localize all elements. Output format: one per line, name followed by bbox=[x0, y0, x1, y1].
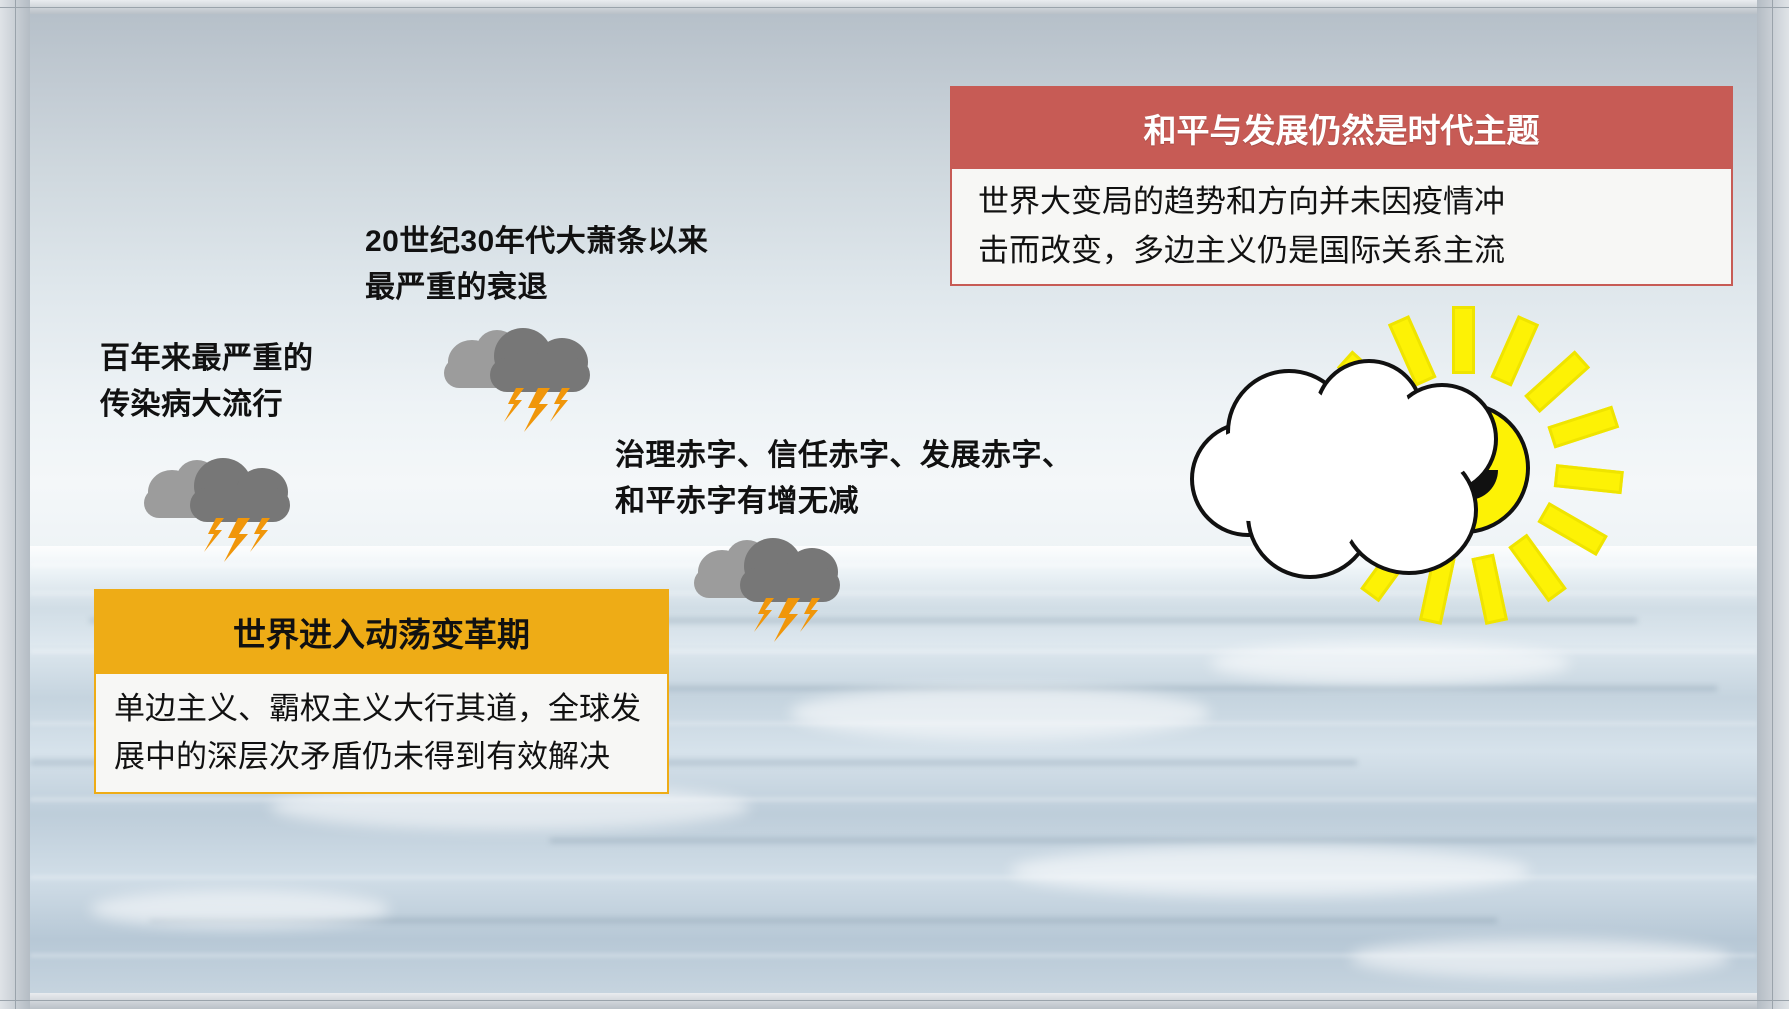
callout-recession-line-2: 最严重的衰退 bbox=[365, 265, 708, 311]
lightning-bolt-icon bbox=[752, 598, 912, 668]
callout-pandemic: 百年来最严重的 传染病大流行 bbox=[100, 336, 314, 427]
callout-pandemic-line-1: 百年来最严重的 bbox=[100, 336, 314, 382]
storm-cloud-icon-1 bbox=[140, 444, 300, 584]
turbulent-change-box-body: 单边主义、霸权主义大行其道，全球发 展中的深层次矛盾仍未得到有效解决 bbox=[94, 674, 669, 794]
turbulent-change-body-line-2: 展中的深层次矛盾仍未得到有效解决 bbox=[114, 733, 649, 781]
lightning-bolt-icon bbox=[202, 518, 362, 588]
callout-deficits: 治理赤字、信任赤字、发展赤字、 和平赤字有增无减 bbox=[615, 433, 1073, 524]
slide-canvas: 百年来最严重的 传染病大流行 20世纪30年代大萧条以来 最严重的衰退 治理赤字… bbox=[30, 14, 1757, 993]
white-cloud-icon bbox=[1190, 359, 1500, 574]
frame-bottom-bar bbox=[0, 993, 1789, 1009]
frame-right-bar bbox=[1757, 0, 1789, 1009]
callout-deficits-line-1: 治理赤字、信任赤字、发展赤字、 bbox=[615, 433, 1073, 479]
storm-cloud-icon-2 bbox=[440, 314, 600, 454]
peace-development-body-line-1: 世界大变局的趋势和方向并未因疫情冲 bbox=[978, 178, 1705, 226]
peace-development-box-body: 世界大变局的趋势和方向并未因疫情冲 击而改变，多边主义仍是国际关系主流 bbox=[950, 169, 1733, 286]
peace-development-body-line-2: 击而改变，多边主义仍是国际关系主流 bbox=[978, 227, 1705, 275]
callout-recession-line-1: 20世纪30年代大萧条以来 bbox=[365, 219, 708, 265]
frame-bottom-line bbox=[0, 1000, 1789, 1001]
slide-frame: 百年来最严重的 传染病大流行 20世纪30年代大萧条以来 最严重的衰退 治理赤字… bbox=[0, 0, 1789, 1009]
frame-top-line bbox=[0, 7, 1789, 8]
frame-right-line bbox=[1772, 0, 1773, 1009]
frame-left-line bbox=[15, 0, 16, 1009]
turbulent-change-body-line-1: 单边主义、霸权主义大行其道，全球发 bbox=[114, 685, 649, 733]
peace-development-box[interactable]: 和平与发展仍然是时代主题 世界大变局的趋势和方向并未因疫情冲 击而改变，多边主义… bbox=[950, 86, 1733, 286]
callout-deficits-line-2: 和平赤字有增无减 bbox=[615, 479, 1073, 525]
storm-cloud-icon-3 bbox=[690, 524, 850, 664]
turbulent-change-box-title: 世界进入动荡变革期 bbox=[94, 589, 669, 674]
turbulent-change-box[interactable]: 世界进入动荡变革期 单边主义、霸权主义大行其道，全球发 展中的深层次矛盾仍未得到… bbox=[94, 589, 669, 794]
callout-pandemic-line-2: 传染病大流行 bbox=[100, 382, 314, 428]
callout-recession: 20世纪30年代大萧条以来 最严重的衰退 bbox=[365, 219, 708, 310]
peace-development-box-title: 和平与发展仍然是时代主题 bbox=[950, 86, 1733, 169]
